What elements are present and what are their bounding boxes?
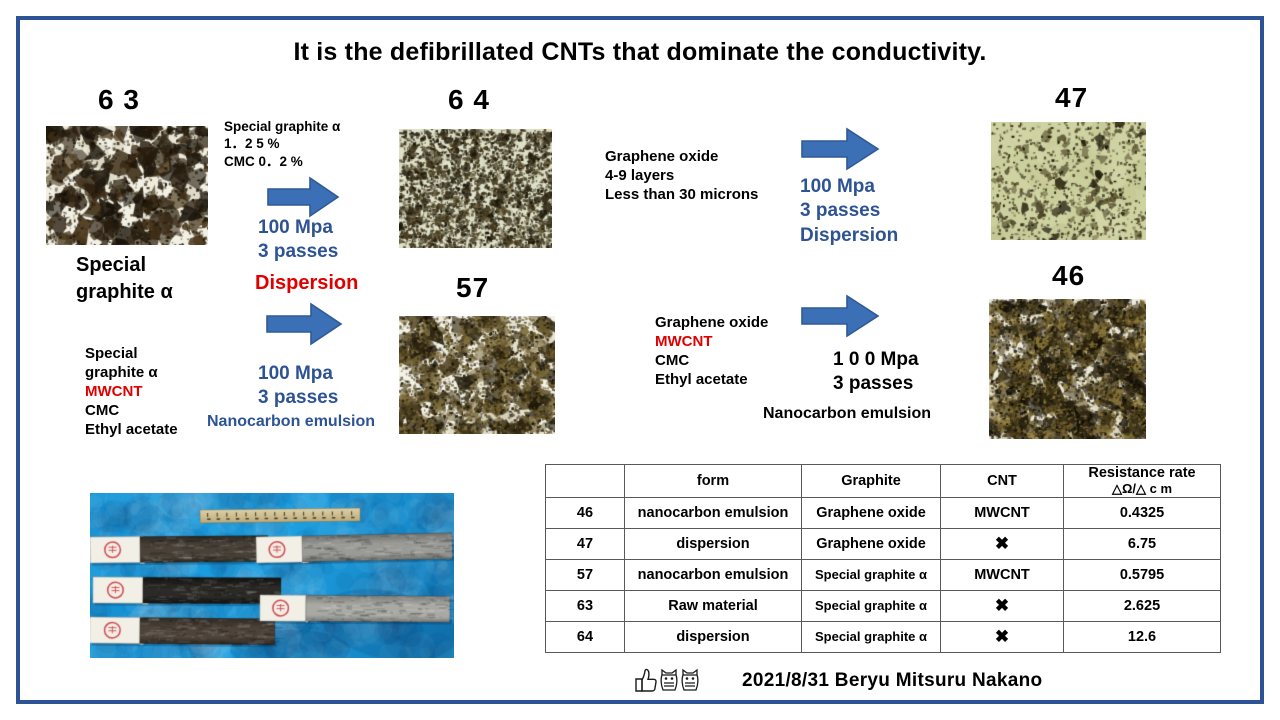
slide-canvas: It is the defibrillated CNTs that domina…: [0, 0, 1280, 720]
caption-special-graphite: Special graphite α: [76, 252, 173, 306]
page-title: It is the defibrillated CNTs that domina…: [0, 38, 1280, 67]
cell-form: dispersion: [625, 528, 802, 559]
cell-id: 57: [546, 559, 625, 590]
cell-form: nanocarbon emulsion: [625, 559, 802, 590]
cell-resistance: 2.625: [1064, 590, 1221, 621]
header-resistance: Resistance rate △Ω/△ c m: [1064, 465, 1221, 498]
process-arrow-4: [800, 293, 880, 339]
micrograph-57: [399, 316, 555, 434]
conditions-row2: 100 Mpa 3 passes: [258, 362, 338, 411]
recipe-row2-line3: MWCNT: [85, 382, 142, 401]
recipe-row1: Special graphite α 1．2 5 % CMC 0．2 %: [224, 118, 340, 170]
recipe-row4-line1: Graphene oxide: [655, 313, 768, 332]
cell-resistance: 6.75: [1064, 528, 1221, 559]
header-id: [546, 465, 625, 498]
micrograph-64: [399, 129, 552, 248]
cell-resistance: 12.6: [1064, 621, 1221, 652]
sample-label-63: 6 3: [98, 84, 140, 116]
cell-form: dispersion: [625, 621, 802, 652]
micrograph-47: [991, 122, 1146, 240]
cell-graphite: Graphene oxide: [802, 497, 941, 528]
sample-label-46: 46: [1052, 260, 1085, 292]
cell-resistance: 0.5795: [1064, 559, 1221, 590]
cell-id: 46: [546, 497, 625, 528]
header-cnt: CNT: [941, 465, 1064, 498]
header-resistance-unit: △Ω/△ c m: [1064, 482, 1220, 497]
result-row2: Nanocarbon emulsion: [207, 412, 375, 432]
recipe-row2-line5: Ethyl acetate: [85, 420, 178, 439]
table-row: 64dispersionSpecial graphite α✖12.6: [546, 621, 1221, 652]
photo-coated-strips: [90, 493, 454, 658]
micrograph-63: [46, 126, 208, 245]
table-row: 47dispersionGraphene oxide✖6.75: [546, 528, 1221, 559]
recipe-row3: Graphene oxide 4-9 layers Less than 30 m…: [605, 147, 758, 205]
thumbs-up-icon: [636, 669, 656, 691]
header-resistance-main: Resistance rate: [1064, 465, 1220, 482]
cell-cnt: ✖: [941, 621, 1064, 652]
recipe-row4-line4: Ethyl acetate: [655, 370, 748, 389]
cell-resistance: 0.4325: [1064, 497, 1221, 528]
cell-form: Raw material: [625, 590, 802, 621]
recipe-row2-line1: Special: [85, 344, 138, 363]
recipe-row4-line2: MWCNT: [655, 332, 712, 351]
sample-label-57: 57: [456, 272, 489, 304]
cell-id: 47: [546, 528, 625, 559]
recipe-row2-line2: graphite α: [85, 363, 158, 382]
header-graphite: Graphite: [802, 465, 941, 498]
process-arrow-3: [800, 126, 880, 172]
thumbs-up-and-cat-icons: [632, 666, 718, 694]
footer-emoji-icons: [632, 666, 718, 701]
conditions-row4: 1 0 0 Mpa 3 passes: [833, 348, 919, 397]
cell-cnt: ✖: [941, 528, 1064, 559]
cell-graphite: Special graphite α: [802, 590, 941, 621]
header-form: form: [625, 465, 802, 498]
sample-label-47: 47: [1055, 82, 1088, 114]
cell-graphite: Special graphite α: [802, 621, 941, 652]
cell-graphite: Special graphite α: [802, 559, 941, 590]
cell-id: 64: [546, 621, 625, 652]
process-arrow-1: [266, 176, 340, 218]
cell-cnt: ✖: [941, 590, 1064, 621]
cell-graphite: Graphene oxide: [802, 528, 941, 559]
cell-cnt: MWCNT: [941, 559, 1064, 590]
sample-label-64: 6 4: [448, 84, 490, 116]
recipe-row4-line3: CMC: [655, 351, 689, 370]
table-row: 63Raw materialSpecial graphite α✖2.625: [546, 590, 1221, 621]
table-row: 46nanocarbon emulsionGraphene oxideMWCNT…: [546, 497, 1221, 528]
cell-id: 63: [546, 590, 625, 621]
table-row: 57nanocarbon emulsionSpecial graphite αM…: [546, 559, 1221, 590]
results-table: form Graphite CNT Resistance rate △Ω/△ c…: [545, 464, 1221, 653]
conditions-row1: 100 Mpa 3 passes: [258, 216, 338, 265]
recipe-row2-line4: CMC: [85, 401, 119, 420]
table-header-row: form Graphite CNT Resistance rate △Ω/△ c…: [546, 465, 1221, 498]
cell-form: nanocarbon emulsion: [625, 497, 802, 528]
micrograph-46: [989, 299, 1146, 439]
result-row1: Dispersion: [255, 271, 358, 297]
process-arrow-2: [265, 302, 343, 346]
conditions-row3: 100 Mpa 3 passes Dispersion: [800, 175, 898, 248]
cat-icon-1: [661, 670, 677, 690]
footer-credit: 2021/8/31 Beryu Mitsuru Nakano: [742, 670, 1042, 692]
cell-cnt: MWCNT: [941, 497, 1064, 528]
result-row4: Nanocarbon emulsion: [763, 404, 931, 424]
cat-icon-2: [682, 670, 698, 690]
